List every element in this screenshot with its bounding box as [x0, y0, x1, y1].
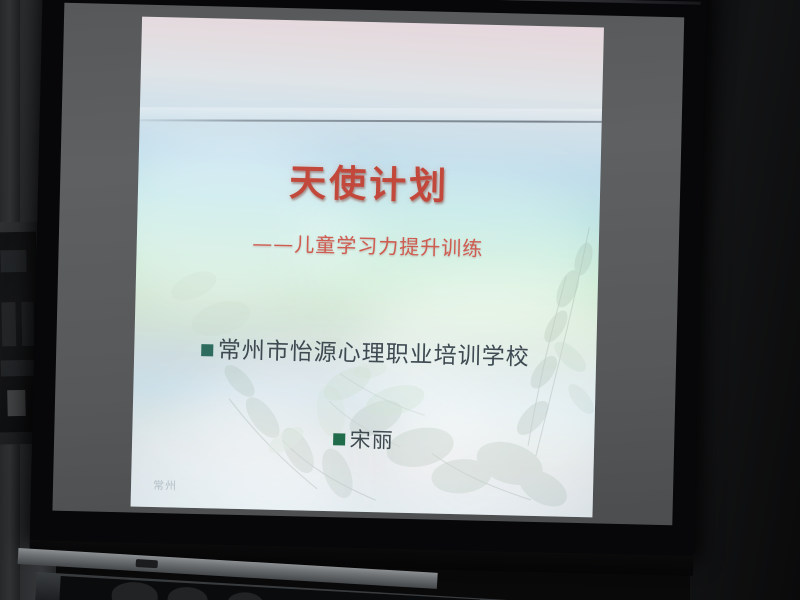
screen-surface: 天使计划 ——儿童学习力提升训练 常州市怡源心理职业培训学校 宋丽 常州 — [52, 3, 684, 525]
square-bullet-icon — [201, 344, 213, 356]
projection-screen: 天使计划 ——儿童学习力提升训练 常州市怡源心理职业培训学校 宋丽 常州 — [29, 0, 706, 576]
slide-title: 天使计划 — [138, 149, 601, 214]
square-bullet-icon — [333, 433, 345, 445]
rail-notch — [136, 559, 158, 568]
right-wall-dark-area — [690, 0, 800, 600]
slide-presenter-label: 宋丽 — [349, 428, 394, 453]
projected-slide: 天使计划 ——儿童学习力提升训练 常州市怡源心理职业培训学校 宋丽 常州 — [131, 17, 604, 518]
projected-presentation-photo: 天使计划 ——儿童学习力提升训练 常州市怡源心理职业培训学校 宋丽 常州 — [0, 0, 800, 600]
slide-corner-watermark: 常州 — [153, 477, 177, 494]
